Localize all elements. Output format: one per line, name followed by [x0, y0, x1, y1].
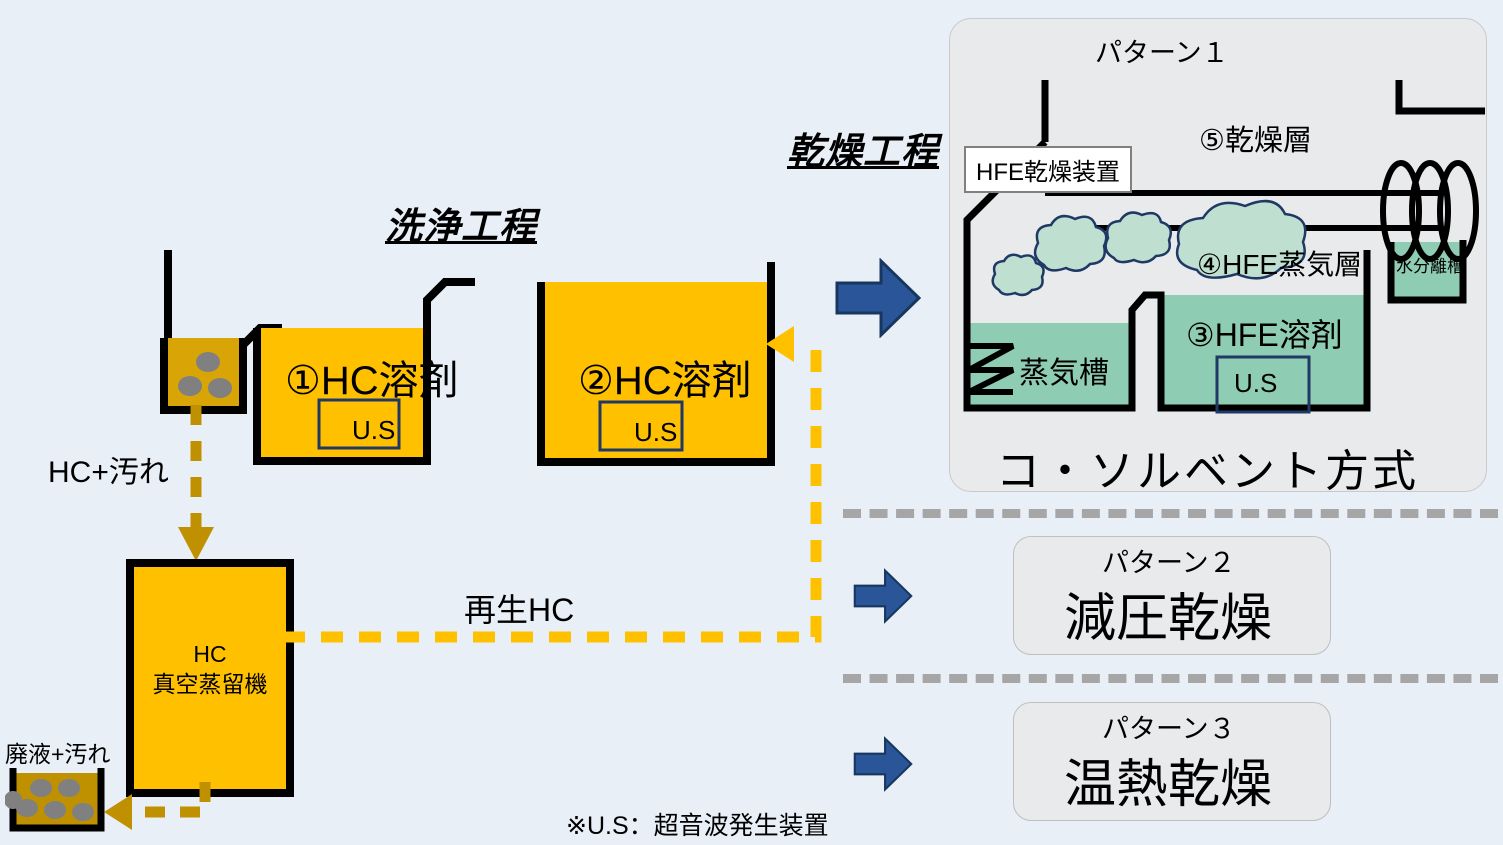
waste-dot	[30, 779, 52, 797]
distiller-label-line1: HC	[193, 641, 226, 667]
vapor-cloud	[1106, 213, 1171, 263]
separator-1	[843, 509, 1498, 518]
waste-dot	[44, 801, 66, 819]
pattern-1-title: パターン１	[1095, 31, 1229, 70]
arrow-shape	[855, 739, 911, 790]
hfe-device-label-box: HFE乾燥装置	[964, 146, 1132, 193]
basket-fill	[164, 338, 239, 410]
diagram-canvas: 乾燥工程 洗浄工程 ①HC溶剤 U.S ②HC溶剤 U.S HC	[0, 0, 1503, 845]
arrow-shape	[837, 261, 919, 335]
separator-2	[843, 674, 1498, 683]
flow-label-regenerated-hc: 再生HC	[464, 585, 574, 631]
pattern-2-title: パターン２	[1102, 541, 1236, 580]
distiller-label-line2: 真空蒸留機	[153, 671, 268, 697]
waste-dot	[58, 779, 80, 797]
vapor-cloud	[993, 255, 1044, 295]
hfe-device-label: HFE乾燥装置	[976, 159, 1120, 186]
heading-drying-process: 乾燥工程	[787, 121, 939, 175]
part-dot	[208, 378, 232, 398]
vapor-cloud	[1035, 216, 1106, 271]
waste-bucket	[5, 768, 115, 838]
part-dot	[178, 376, 202, 396]
part-dot	[196, 352, 220, 372]
footnote-us: ※U.S：超音波発生装置	[566, 806, 829, 842]
dashed-path	[130, 782, 205, 812]
hfe-solvent-label: ③HFE溶剤	[1186, 310, 1343, 356]
arrow-head	[178, 527, 214, 561]
basket-left-wall	[164, 250, 172, 340]
distiller-label: HC 真空蒸留機	[125, 640, 295, 700]
pattern-2-method: 減圧乾燥	[1064, 576, 1272, 651]
dry-layer-label: ⑤乾燥層	[1199, 117, 1312, 159]
hfe-us-label: U.S	[1234, 368, 1277, 399]
flow-label-dirty-hc: HC+汚れ	[48, 447, 169, 491]
arrow-head	[104, 794, 132, 830]
pattern-3-title: パターン３	[1102, 707, 1236, 746]
hfe-vapor-layer-label: ④HFE蒸気層	[1197, 243, 1362, 283]
arrow-head	[766, 326, 794, 362]
waste-label: 廃液+汚れ	[5, 735, 110, 769]
pattern-1-method: コ・ソルベント方式	[996, 435, 1419, 499]
arrow-waste	[100, 780, 220, 840]
blue-arrow-to-pattern-2	[852, 568, 914, 624]
pattern-3-method: 温熱乾燥	[1064, 742, 1272, 817]
vapor-tank-label: 蒸気槽	[1019, 348, 1109, 392]
arrow-shape	[855, 571, 911, 622]
tank2-riser	[767, 262, 775, 304]
waste-dot	[72, 803, 94, 821]
blue-arrow-to-pattern-3	[852, 736, 914, 792]
water-separator-label: 水分離槽	[1396, 252, 1464, 277]
blue-arrow-to-pattern-1	[833, 258, 923, 338]
arrow-dirty-hc-down	[160, 405, 240, 570]
heading-washing-process: 洗浄工程	[385, 196, 537, 250]
